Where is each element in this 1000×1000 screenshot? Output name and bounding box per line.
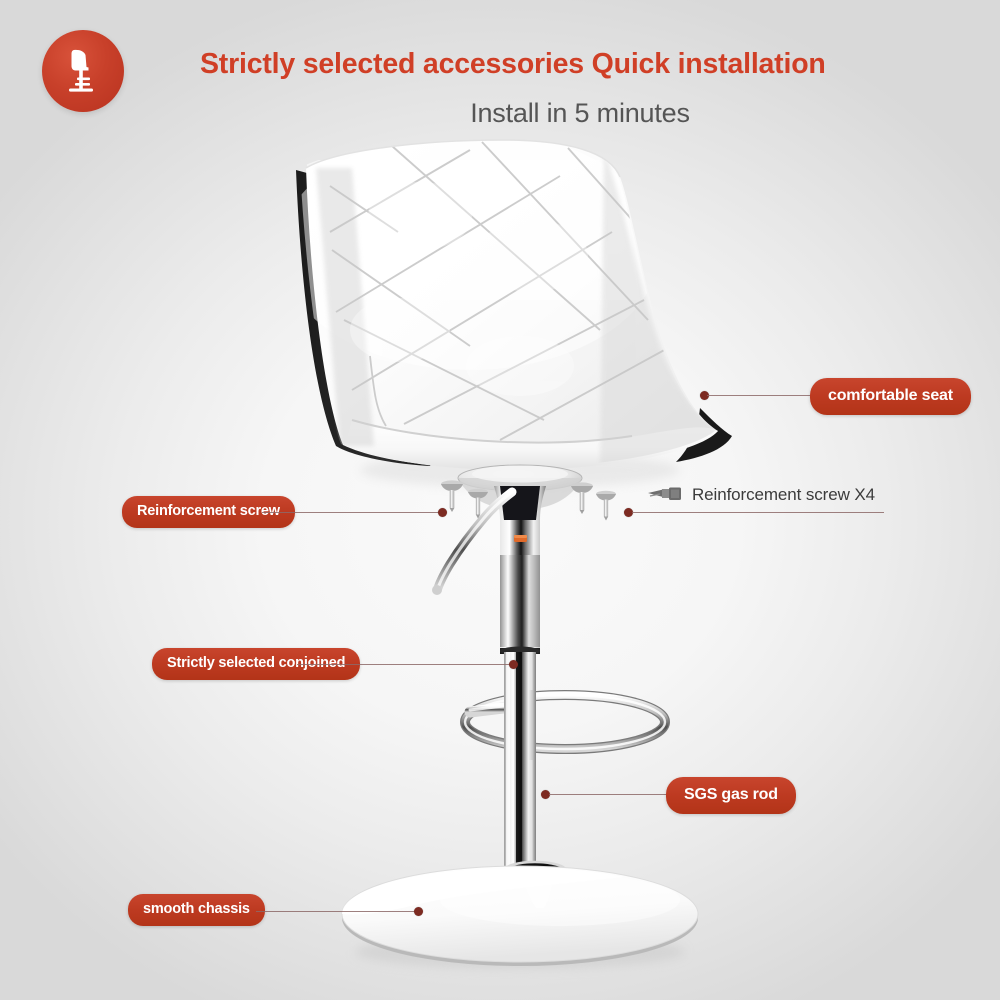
leader-line [707,395,812,396]
leader-line [262,512,440,513]
footrest-ring [465,690,665,760]
callout-label-sgs-gas-rod[interactable]: SGS gas rod [666,777,796,814]
callout-label-reinforcement-screw-x4[interactable]: Reinforcement screw X4 [692,485,875,505]
leader-dot [438,508,447,517]
screwdriver-icon [646,484,686,506]
leader-line [549,794,668,795]
infographic-canvas: Strictly selected accessories Quick inst… [0,0,1000,1000]
leader-dot [509,660,518,669]
leader-line [297,664,511,665]
callout-label-comfortable-seat[interactable]: comfortable seat [810,378,971,415]
leader-line [256,911,416,912]
leader-dot [414,907,423,916]
callout-label-smooth-chassis[interactable]: smooth chassis [128,894,265,926]
leader-line [632,512,884,513]
chassis-base [342,862,698,966]
